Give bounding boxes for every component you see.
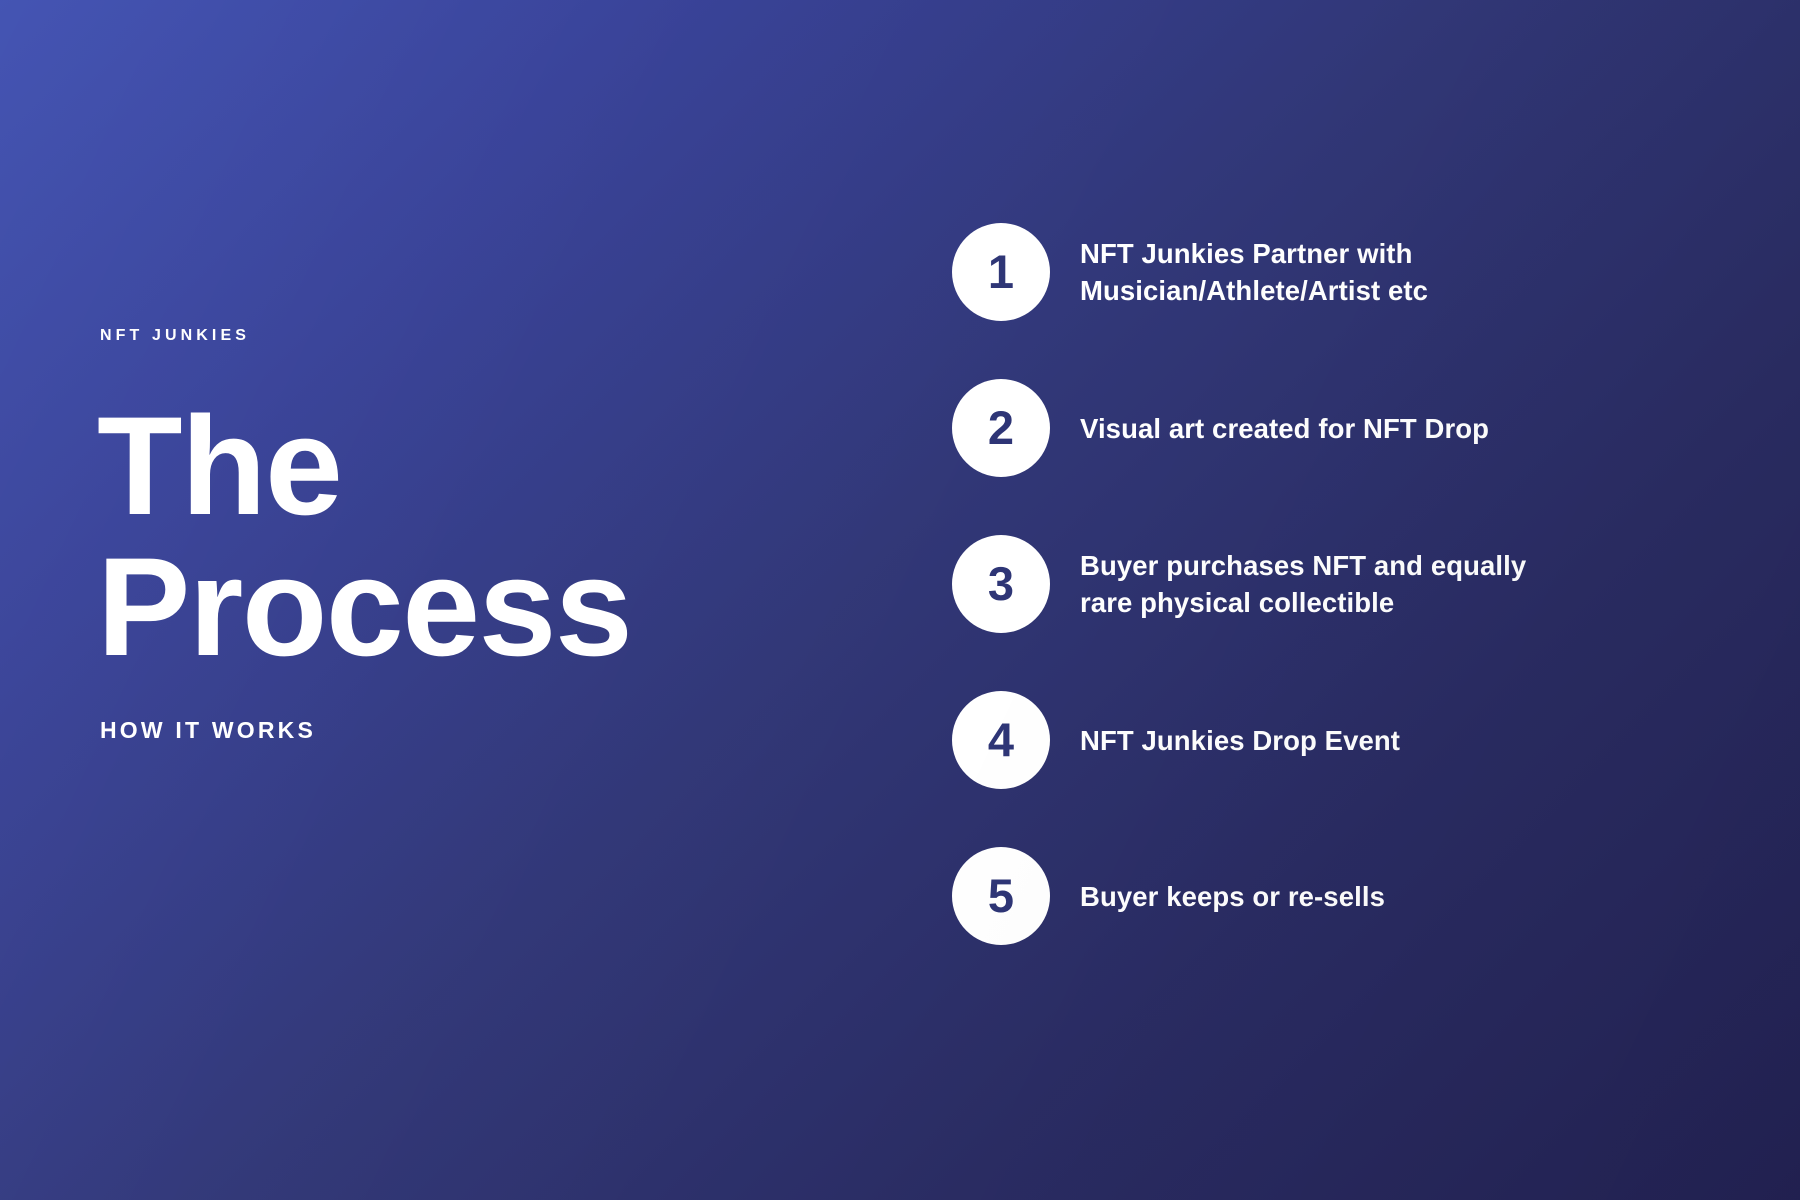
step-number-label: 3 — [988, 560, 1014, 607]
step-description-line: NFT Junkies Drop Event — [1080, 722, 1712, 759]
step-number-badge: 3 — [952, 535, 1050, 633]
step-description-line: Musician/Athlete/Artist etc — [1080, 272, 1712, 309]
step-number-label: 5 — [988, 872, 1014, 919]
step-number-badge: 5 — [952, 847, 1050, 945]
process-step: 2Visual art created for NFT Drop — [952, 379, 1712, 477]
step-description: NFT Junkies Drop Event — [1080, 722, 1712, 759]
title-column: NFT JUNKIES The Process HOW IT WORKS — [100, 0, 820, 1200]
step-description: Visual art created for NFT Drop — [1080, 410, 1712, 447]
page-title-line-1: The — [97, 395, 631, 536]
step-number-badge: 2 — [952, 379, 1050, 477]
page-title-line-2: Process — [97, 536, 631, 677]
process-step: 4NFT Junkies Drop Event — [952, 691, 1712, 789]
slide-canvas: NFT JUNKIES The Process HOW IT WORKS 1NF… — [0, 0, 1800, 1200]
step-number-label: 1 — [988, 248, 1014, 295]
process-step: 5Buyer keeps or re-sells — [952, 847, 1712, 945]
page-subtitle: HOW IT WORKS — [100, 715, 316, 745]
brand-eyebrow: NFT JUNKIES — [100, 325, 250, 347]
step-description: Buyer purchases NFT and equallyrare phys… — [1080, 547, 1712, 621]
step-description-line: Visual art created for NFT Drop — [1080, 410, 1712, 447]
page-title: The Process — [97, 395, 631, 677]
step-number-label: 4 — [988, 716, 1014, 763]
step-number-badge: 4 — [952, 691, 1050, 789]
step-description-line: rare physical collectible — [1080, 584, 1712, 621]
step-number-badge: 1 — [952, 223, 1050, 321]
process-step: 3Buyer purchases NFT and equallyrare phy… — [952, 535, 1712, 633]
process-step: 1NFT Junkies Partner withMusician/Athlet… — [952, 223, 1712, 321]
step-description-line: Buyer purchases NFT and equally — [1080, 547, 1712, 584]
step-number-label: 2 — [988, 404, 1014, 451]
step-description: Buyer keeps or re-sells — [1080, 878, 1712, 915]
step-description-line: Buyer keeps or re-sells — [1080, 878, 1712, 915]
step-description-line: NFT Junkies Partner with — [1080, 235, 1712, 272]
step-description: NFT Junkies Partner withMusician/Athlete… — [1080, 235, 1712, 309]
